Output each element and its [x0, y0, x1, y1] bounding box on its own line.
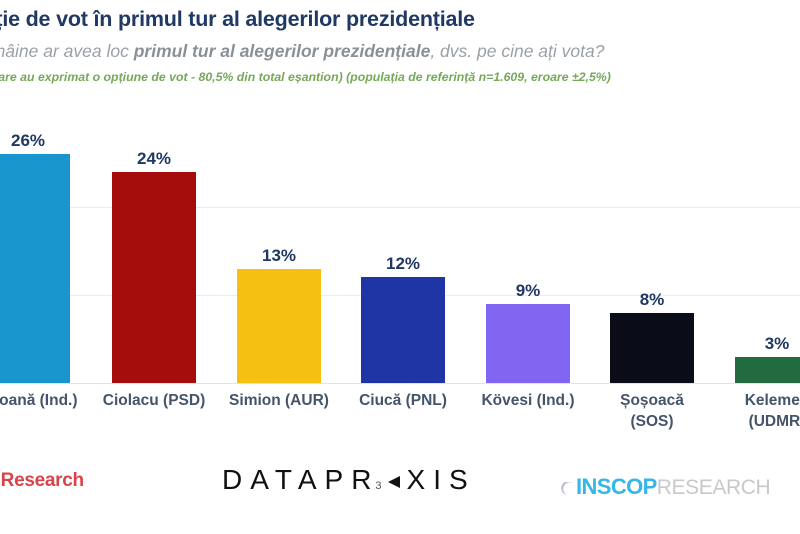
plot-area: 26%24%13%12%9%8%3% — [0, 104, 800, 384]
chart-subtitle: Dacă mâine ar avea loc primul tur al ale… — [0, 34, 800, 64]
bar: 24% — [112, 172, 196, 383]
chart-sample-note: (din cei care au exprimat o opțiune de v… — [0, 64, 800, 87]
bar-value-label: 24% — [112, 149, 196, 169]
x-axis-labels: Geoană (Ind.)Ciolacu (PSD)Simion (AUR)Ci… — [0, 390, 800, 450]
bar-value-label: 3% — [735, 334, 800, 354]
inscop-logo-main: INSCOP — [576, 474, 657, 500]
x-axis-category-label: Simion (AUR) — [225, 390, 333, 411]
bar: 8% — [610, 313, 694, 383]
bar: 9% — [486, 304, 570, 383]
datapraxis-logo-sub: 3 — [375, 480, 381, 492]
bar: 26% — [0, 154, 70, 383]
x-axis-category-label: Șoșoacă (SOS) — [598, 390, 706, 432]
bar-value-label: 9% — [486, 281, 570, 301]
x-axis-category-label: Geoană (Ind.) — [0, 390, 82, 411]
bar-value-label: 8% — [610, 290, 694, 310]
x-axis-baseline — [0, 383, 800, 384]
x-axis-category-label: Kövesi (Ind.) — [474, 390, 582, 411]
x-axis-category-label: Ciucă (PNL) — [349, 390, 457, 411]
subtitle-part-1: Dacă mâine ar avea loc — [0, 41, 134, 61]
bar-value-label: 12% — [361, 254, 445, 274]
x-axis-category-label: Kelemen(UDMR) — [723, 390, 800, 432]
chart-header: Intenție de vot în primul tur al alegeri… — [0, 0, 800, 87]
page-title: Intenție de vot în primul tur al alegeri… — [0, 0, 800, 34]
datapraxis-arrow-icon — [386, 465, 402, 497]
bar: 3% — [735, 357, 800, 383]
inscop-mark-icon — [560, 482, 574, 496]
bar: 13% — [237, 269, 321, 383]
gesner-research-logo: Gesner Research — [0, 470, 84, 492]
bar-value-label: 26% — [0, 131, 70, 151]
datapraxis-logo-tail: XIS — [407, 464, 476, 496]
bar-value-label: 13% — [237, 246, 321, 266]
subtitle-part-2: , dvs. pe cine ați vota? — [430, 41, 604, 61]
inscop-logo-sub: RESEARCH — [657, 476, 771, 500]
datapraxis-logo: DATAPR3 XIS — [222, 464, 476, 496]
bar: 12% — [361, 277, 445, 383]
datapraxis-logo-text: DATAPR — [222, 464, 379, 496]
x-axis-category-label: Ciolacu (PSD) — [100, 390, 208, 411]
inscop-research-logo: INSCOPRESEARCH — [560, 474, 770, 500]
subtitle-emphasis: primul tur al alegerilor prezidențiale — [134, 41, 431, 61]
chart-slide: Intenție de vot în primul tur al alegeri… — [0, 0, 800, 534]
footer-logos: Gesner Research DATAPR3 XIS INSCOPRESEAR… — [0, 452, 800, 534]
